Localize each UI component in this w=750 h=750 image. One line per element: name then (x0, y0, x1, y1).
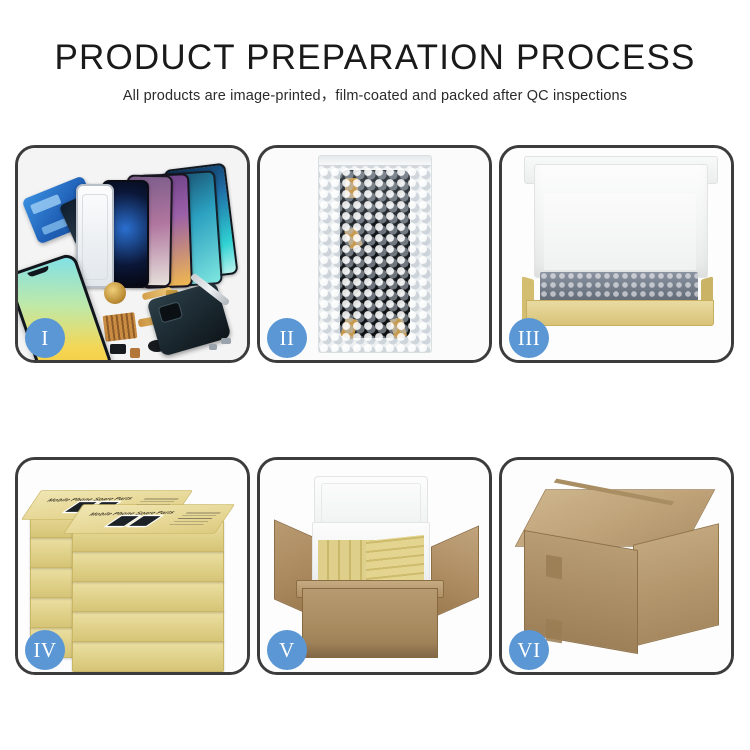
foam-sheet-graphic (544, 194, 696, 270)
page-subtitle: All products are image-printed，film-coat… (0, 87, 750, 105)
retail-box (72, 640, 224, 672)
carton-tape-graphic (546, 619, 562, 644)
page-header: PRODUCT PREPARATION PROCESS All products… (0, 0, 750, 105)
process-step-panel-5[interactable]: V (257, 457, 492, 675)
retail-box (72, 610, 224, 642)
component-graphic (209, 344, 217, 350)
process-step-panel-2[interactable]: II (257, 145, 492, 363)
process-step-panel-3[interactable]: III (499, 145, 734, 363)
component-graphic (221, 338, 231, 344)
carton-flap-right-graphic (431, 525, 479, 618)
carton-body-graphic (302, 588, 438, 658)
bubble-wrap-bag-graphic (318, 155, 432, 353)
component-graphic (130, 348, 140, 358)
step-badge-6: VI (509, 630, 549, 670)
component-graphic (110, 344, 126, 354)
process-step-grid: I II (15, 145, 735, 675)
retail-box (72, 580, 224, 612)
bag-seal-graphic (319, 156, 431, 166)
speaker-component-graphic (104, 282, 126, 304)
step-badge-4: IV (25, 630, 65, 670)
retail-box-top-front: Mobile Phone Spare Parts (72, 520, 224, 552)
retail-box (72, 550, 224, 582)
carton-tape-graphic (546, 555, 562, 580)
step-badge-3: III (509, 318, 549, 358)
kraft-box-front-graphic (526, 300, 714, 326)
step-badge-2: II (267, 318, 307, 358)
retail-box-label: Mobile Phone Spare Parts (71, 511, 226, 526)
process-step-panel-6[interactable]: VI (499, 457, 734, 675)
page-title: PRODUCT PREPARATION PROCESS (0, 38, 750, 78)
carton-side-face-graphic (633, 523, 719, 646)
step-badge-5: V (267, 630, 307, 670)
process-step-panel-1[interactable]: I (15, 145, 250, 363)
retail-box-top-face: Mobile Phone Spare Parts (63, 504, 235, 534)
tempered-glass-graphic (76, 184, 114, 288)
step-badge-1: I (25, 318, 65, 358)
chip-component-graphic (103, 312, 138, 342)
process-step-panel-4[interactable]: Mobile Phone Spare Parts Mobil (15, 457, 250, 675)
box-spec-lines (169, 512, 222, 525)
bubble-texture-graphic (319, 156, 431, 352)
